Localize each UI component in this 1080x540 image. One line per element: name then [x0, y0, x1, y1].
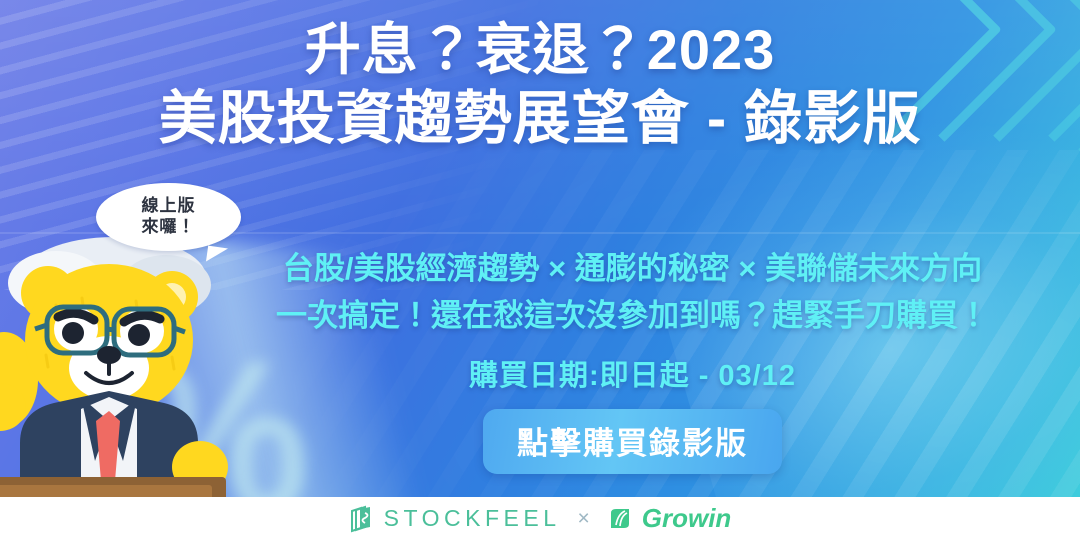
headline-line-2: 美股投資趨勢展望會 - 錄影版	[0, 85, 1080, 152]
leaf-mark-icon	[607, 506, 633, 532]
footer-brand-bar: STOCKFEEL × Growin	[0, 497, 1080, 540]
buy-recording-button[interactable]: 點擊購買錄影版	[483, 409, 782, 474]
stacked-pages-icon	[349, 505, 375, 533]
mascot-illustration	[0, 205, 236, 505]
purchase-date-line: 購買日期:即日起 - 03/12	[205, 352, 1060, 394]
body-copy: 台股/美股經濟趨勢 × 通膨的秘密 × 美聯儲未來方向 一次搞定！還在愁這次沒參…	[205, 246, 1060, 394]
page-title: 升息？衰退？2023 美股投資趨勢展望會 - 錄影版	[0, 18, 1080, 152]
stockfeel-brand[interactable]: STOCKFEEL	[349, 505, 561, 533]
cta-container: 點擊購買錄影版	[205, 409, 1060, 474]
growin-brand[interactable]: Growin	[607, 503, 732, 534]
promo-banner: % 升息？衰退？2023 美股投資趨勢展望會 - 錄影版	[0, 0, 1080, 540]
growin-wordmark: Growin	[642, 503, 732, 534]
headline-line-1: 升息？衰退？2023	[0, 18, 1080, 83]
bubble-line-2: 來囉！	[142, 217, 196, 238]
yellow-bear-icon	[0, 205, 236, 505]
bubble-line-1: 線上版	[142, 196, 196, 217]
body-line-1: 台股/美股經濟趨勢 × 通膨的秘密 × 美聯儲未來方向	[205, 246, 1060, 293]
stockfeel-wordmark: STOCKFEEL	[384, 505, 561, 532]
body-line-2: 一次搞定！還在愁這次沒參加到嗎？趕緊手刀購買！	[205, 293, 1060, 340]
brand-separator: ×	[578, 507, 590, 531]
speech-bubble: 線上版 來囉！	[96, 183, 241, 251]
